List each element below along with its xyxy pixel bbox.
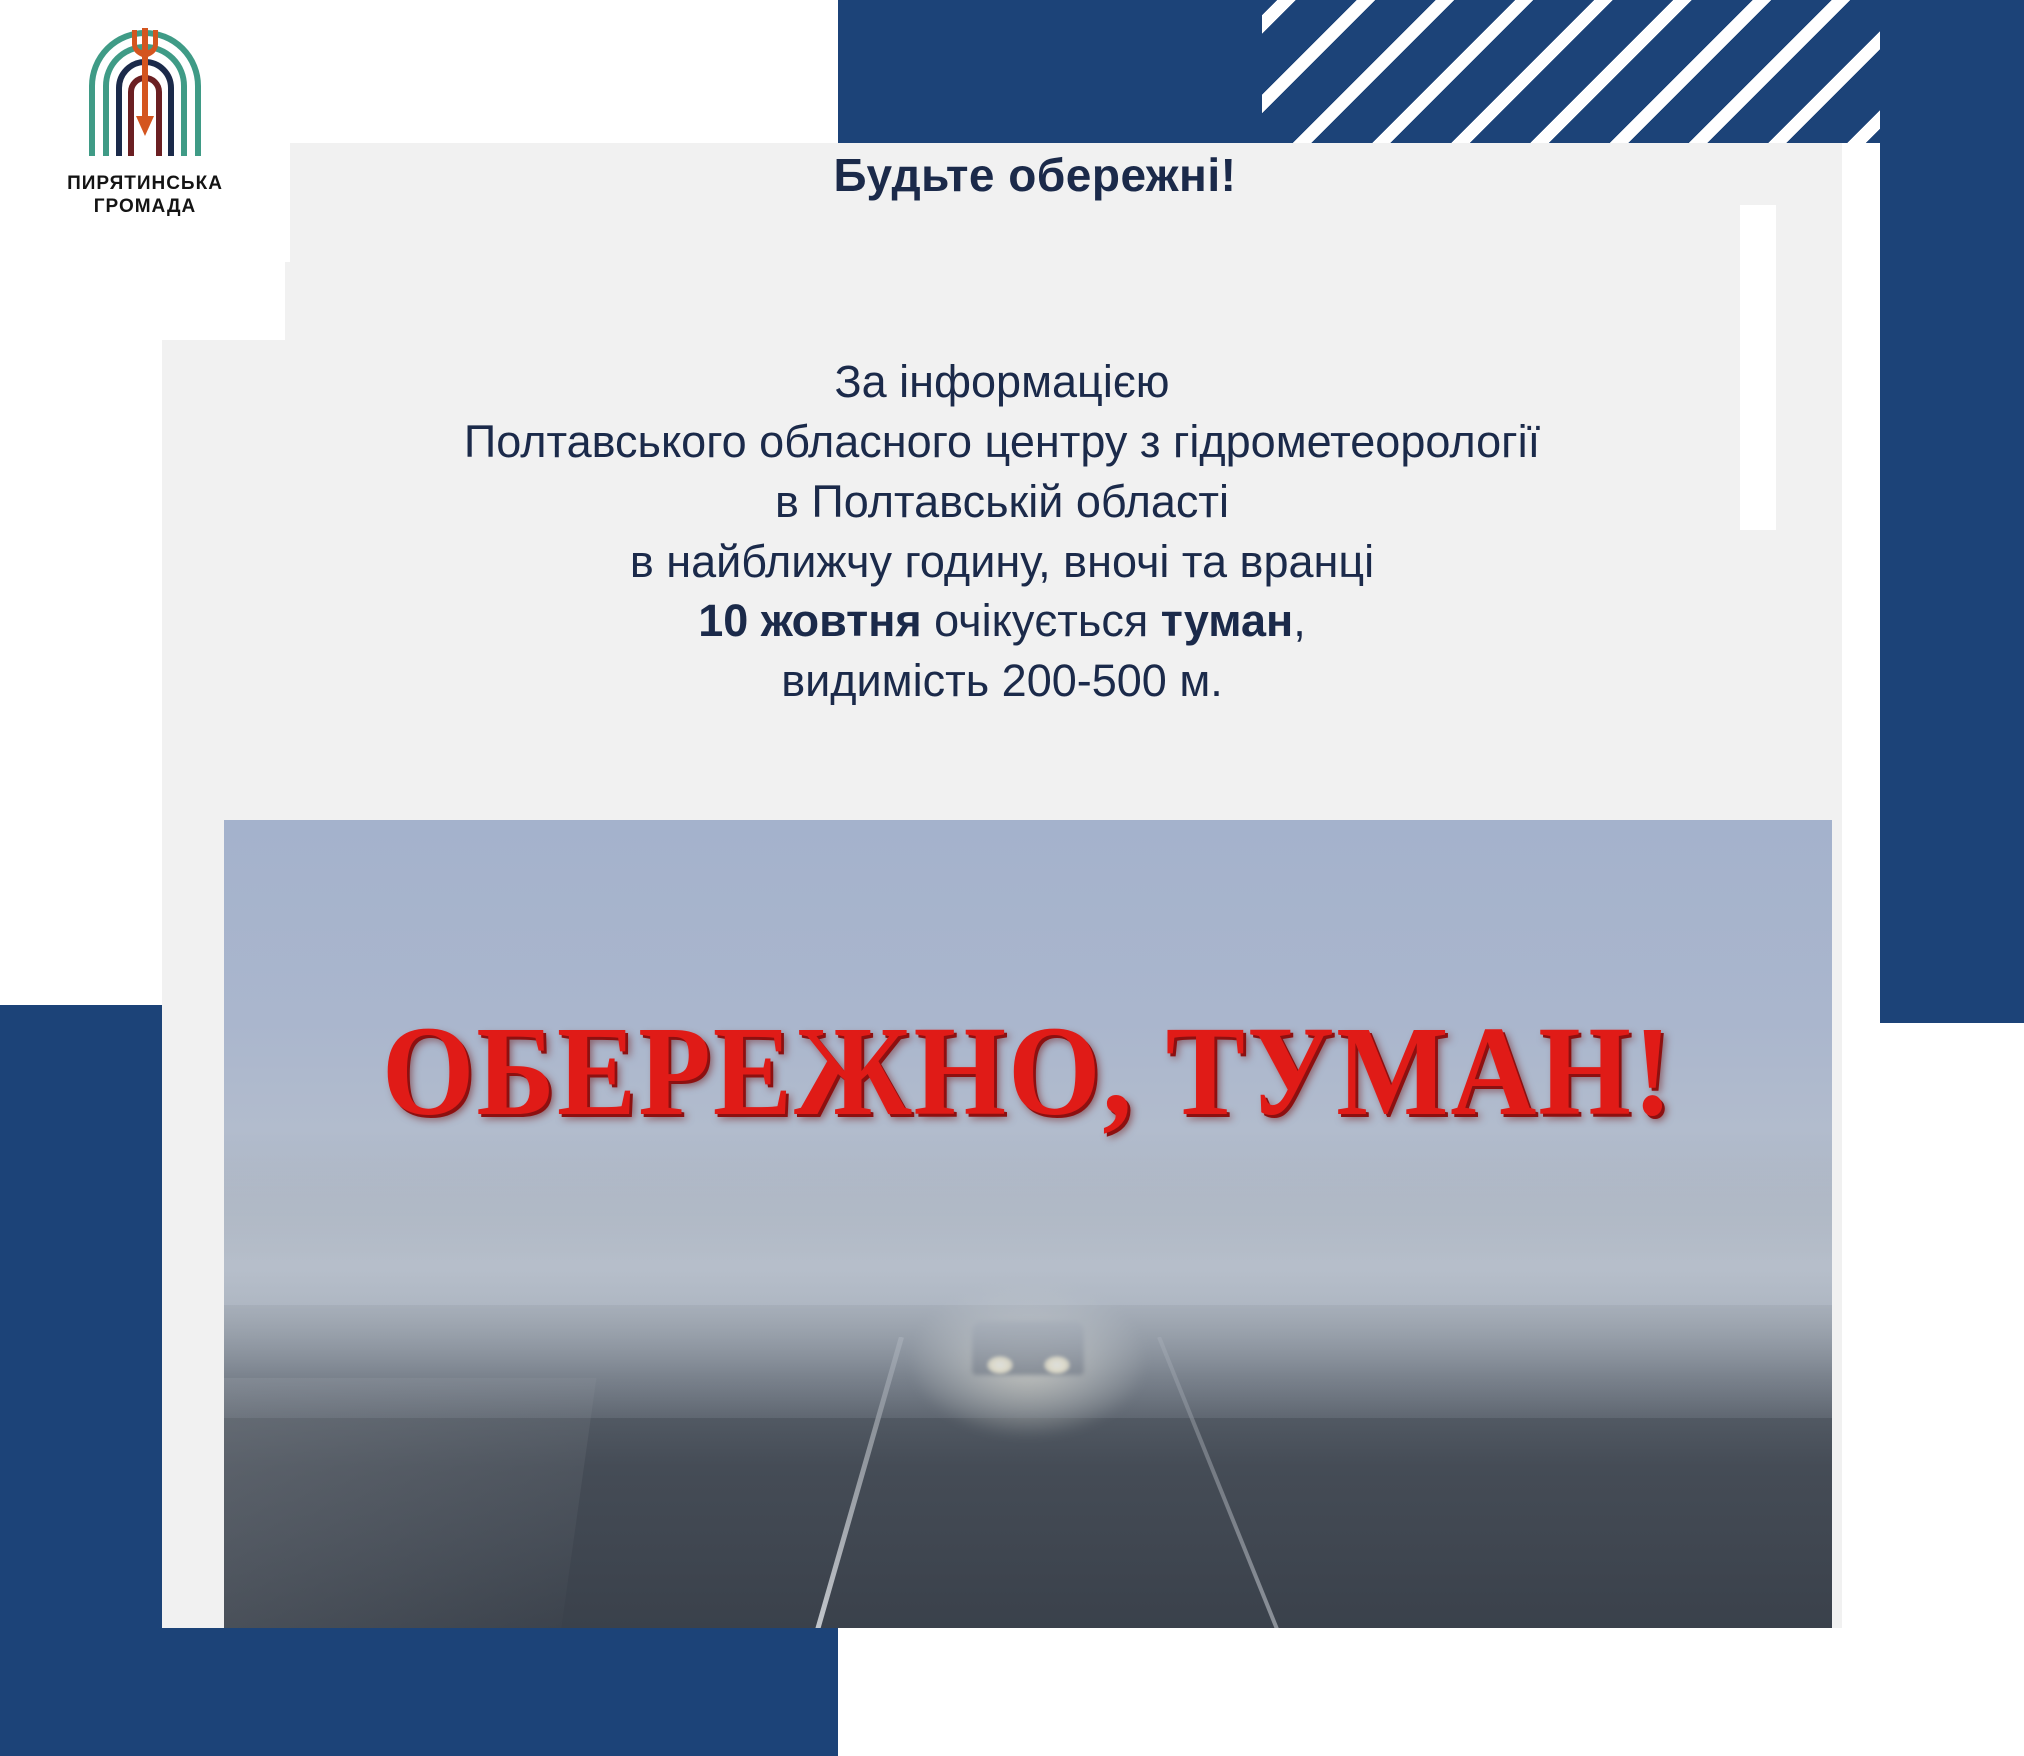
body-line-visibility: видимість 200-500 м. xyxy=(162,651,1842,711)
brand-logo-block: ПИРЯТИНСЬКА ГРОМАДА xyxy=(0,0,290,262)
photo-warning-text: ОБЕРЕЖНО, ТУМАН! xyxy=(280,998,1775,1145)
body-line-1: Полтавського обласного центру з гідромет… xyxy=(162,412,1842,472)
photo-fog-haze xyxy=(224,1143,1832,1418)
blue-right-column xyxy=(1880,0,2024,1023)
blue-bottom-left-block xyxy=(0,1005,174,1756)
headline: Будьте обережні! xyxy=(285,148,1785,202)
announcement-body: За інформацією Полтавського обласного це… xyxy=(162,352,1842,711)
brand-name-line1: ПИРЯТИНСЬКА xyxy=(67,172,223,195)
forecast-phenomenon: туман xyxy=(1161,595,1294,646)
body-line-3: в найближчу годину, вночі та вранці xyxy=(162,532,1842,592)
poster-canvas: ПИРЯТИНСЬКА ГРОМАДА Будьте обережні! За … xyxy=(0,0,2024,1756)
forecast-tail: , xyxy=(1293,595,1306,646)
forecast-date: 10 жовтня xyxy=(698,595,921,646)
pyriatyn-arch-arrow-logo-icon xyxy=(70,24,220,164)
brand-name-line2: ГРОМАДА xyxy=(67,195,223,218)
blue-bottom-bar xyxy=(174,1620,838,1756)
body-line-2: в Полтавській області xyxy=(162,472,1842,532)
forecast-middle: очікується xyxy=(922,595,1161,646)
body-line-0: За інформацією xyxy=(162,352,1842,412)
blue-top-band xyxy=(838,0,2024,143)
brand-name: ПИРЯТИНСЬКА ГРОМАДА xyxy=(67,172,223,218)
body-line-date: 10 жовтня очікується туман, xyxy=(162,591,1842,651)
foggy-road-photo: ОБЕРЕЖНО, ТУМАН! xyxy=(224,820,1832,1628)
